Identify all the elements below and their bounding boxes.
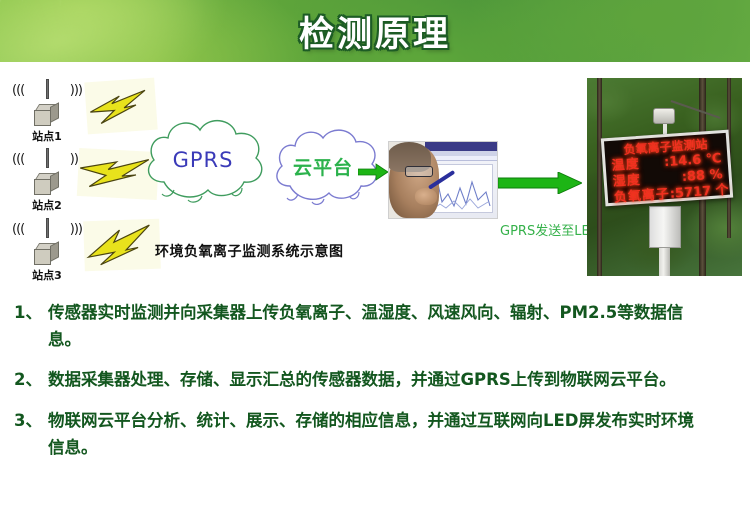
wave-left-glyph: ((( bbox=[12, 217, 24, 243]
point-text: 传感器实时监测并向采集器上传负氧离子、温湿度、风速风向、辐射、PM2.5等数据信… bbox=[48, 300, 708, 353]
point-number: 1、 bbox=[0, 300, 48, 327]
flow-arrow-to-led bbox=[498, 172, 582, 194]
led-row-value: :5717 个 bbox=[669, 184, 729, 201]
station-device-icon bbox=[34, 243, 60, 265]
wave-left-glyph: ((( bbox=[12, 78, 24, 104]
diagram-caption: 环境负氧离子监测系统示意图 bbox=[155, 241, 344, 261]
point-number: 2、 bbox=[0, 367, 48, 394]
equipment-cabinet bbox=[649, 206, 681, 248]
wave-right-glyph: ))) bbox=[70, 217, 82, 243]
led-display-board: 负氧离子监测站 温度 :14.6 ℃ 湿度 :88 % 负氧离子 :5717 个 bbox=[601, 130, 733, 207]
analysis-photo bbox=[388, 141, 498, 219]
cloud-gprs: GPRS bbox=[138, 110, 268, 210]
led-row-value: :88 % bbox=[681, 168, 723, 184]
sensor-head-icon bbox=[653, 108, 675, 124]
station-device-icon bbox=[34, 173, 60, 195]
glasses-icon bbox=[405, 166, 433, 177]
wireless-waves-icon: ((( ))) bbox=[8, 78, 86, 104]
led-sign-photo: 负氧离子监测站 温度 :14.6 ℃ 湿度 :88 % 负氧离子 :5717 个 bbox=[587, 78, 742, 276]
signal-bolt-icon-3 bbox=[83, 219, 161, 272]
led-row-key: 负氧离子 bbox=[614, 188, 671, 205]
antenna-icon bbox=[46, 148, 49, 168]
principle-point-1: 1、 传感器实时监测并向采集器上传负氧离子、温湿度、风速风向、辐射、PM2.5等… bbox=[0, 300, 750, 353]
led-row-key: 湿度 bbox=[612, 174, 641, 189]
led-row-key: 温度 bbox=[611, 158, 640, 173]
point-text: 物联网云平台分析、统计、展示、存储的相应信息，并通过互联网向LED屏发布实时环境… bbox=[48, 408, 708, 461]
led-row-value: :14.6 ℃ bbox=[664, 152, 722, 169]
point-number: 3、 bbox=[0, 408, 48, 435]
principle-point-2: 2、 数据采集器处理、存储、显示汇总的传感器数据，并通过GPRS上传到物联网云平… bbox=[0, 367, 750, 394]
person-hand bbox=[415, 188, 437, 205]
screen-chart-icon bbox=[430, 168, 492, 212]
wave-right-glyph: ))) bbox=[70, 78, 82, 104]
antenna-icon bbox=[46, 79, 49, 99]
station-label: 站点2 bbox=[8, 197, 86, 213]
principle-points-list: 1、 传感器实时监测并向采集器上传负氧离子、温湿度、风速风向、辐射、PM2.5等… bbox=[0, 300, 750, 476]
wireless-waves-icon: ((( ))) bbox=[8, 217, 86, 243]
station-device-icon bbox=[34, 104, 60, 126]
station-label: 站点3 bbox=[8, 267, 86, 283]
cloud-gprs-label: GPRS bbox=[138, 110, 268, 210]
antenna-icon bbox=[46, 218, 49, 238]
gprs-send-label: GPRS发送至LED bbox=[500, 220, 600, 239]
page-header-banner: 检测原理 bbox=[0, 0, 750, 62]
tree-trunk bbox=[597, 78, 602, 276]
point-text: 数据采集器处理、存储、显示汇总的传感器数据，并通过GPRS上传到物联网云平台。 bbox=[48, 367, 708, 394]
wireless-waves-icon: ((( ))) bbox=[8, 147, 86, 173]
flow-arrow-to-analysis bbox=[358, 163, 388, 181]
station-node-2: ((( ))) 站点2 bbox=[8, 147, 86, 213]
station-node-1: ((( ))) 站点1 bbox=[8, 78, 86, 144]
station-label: 站点1 bbox=[8, 128, 86, 144]
principle-point-3: 3、 物联网云平台分析、统计、展示、存储的相应信息，并通过互联网向LED屏发布实… bbox=[0, 408, 750, 461]
station-node-3: ((( ))) 站点3 bbox=[8, 217, 86, 283]
wave-left-glyph: ((( bbox=[12, 147, 24, 173]
page-title: 检测原理 bbox=[0, 0, 750, 62]
